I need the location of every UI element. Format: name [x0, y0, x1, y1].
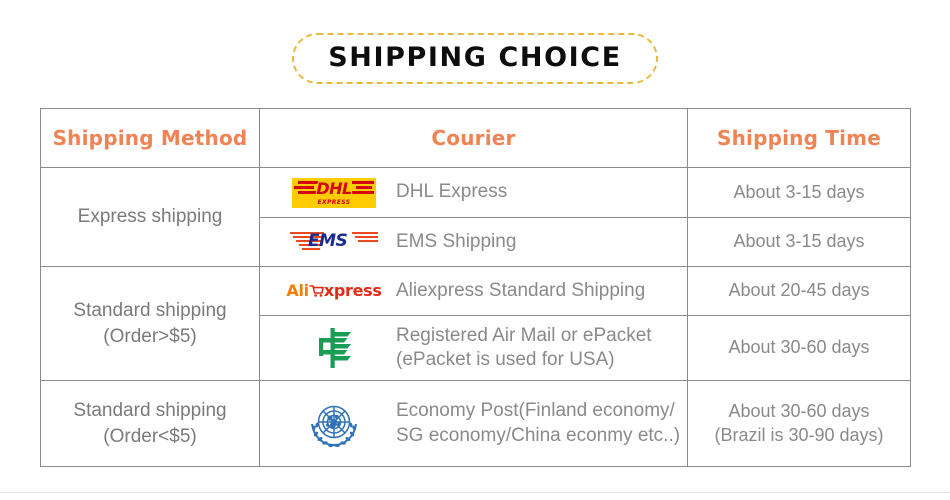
table-row: Express shipping DHL EXPRESS DHL Express — [41, 168, 911, 218]
shopping-cart-icon — [309, 283, 325, 301]
united-nations-logo — [286, 398, 382, 450]
courier-name: Registered Air Mail or ePacket (ePacket … — [396, 324, 652, 373]
china-post-emblem-icon — [311, 325, 357, 371]
header-shipping-time: Shipping Time — [688, 109, 911, 168]
ems-logo-wordmark: EMS — [308, 231, 347, 251]
dhl-logo-subtext: EXPRESS — [292, 199, 376, 207]
shipping-time-value: About 30-60 days (Brazil is 30-90 days) — [688, 381, 911, 467]
header-shipping-method: Shipping Method — [41, 109, 260, 168]
page-title: SHIPPING CHOICE — [328, 44, 622, 71]
courier-name: DHL Express — [396, 180, 507, 204]
courier-name: EMS Shipping — [396, 230, 516, 254]
shipping-table-container: Shipping Method Courier Shipping Time Ex… — [40, 108, 910, 467]
courier-cell-china-post: Registered Air Mail or ePacket (ePacket … — [260, 316, 688, 381]
title-dashed-box: SHIPPING CHOICE — [292, 33, 658, 84]
ems-logo: EMS — [286, 227, 382, 257]
dhl-logo: DHL EXPRESS — [286, 178, 382, 208]
aliexpress-logo: Ali xpress — [286, 282, 382, 300]
bottom-divider — [0, 492, 950, 493]
table-row: Standard shipping (Order<$5) — [41, 381, 911, 467]
courier-cell-aliexpress: Ali xpress — [260, 267, 688, 316]
aliexpress-logo-part2: xpress — [324, 283, 382, 299]
dhl-logo-wordmark: DHL — [292, 179, 376, 198]
courier-name: Aliexpress Standard Shipping — [396, 279, 645, 303]
method-express-shipping: Express shipping — [41, 168, 260, 267]
table-row: Standard shipping (Order>$5) Ali — [41, 267, 911, 316]
shipping-choice-table: Shipping Method Courier Shipping Time Ex… — [40, 108, 911, 467]
shipping-time-value: About 30-60 days — [688, 316, 911, 381]
courier-cell-dhl: DHL EXPRESS DHL Express — [260, 168, 688, 218]
method-standard-shipping-under-5: Standard shipping (Order<$5) — [41, 381, 260, 467]
method-standard-shipping-over-5: Standard shipping (Order>$5) — [41, 267, 260, 381]
shipping-time-value: About 3-15 days — [688, 168, 911, 218]
table-header-row: Shipping Method Courier Shipping Time — [41, 109, 911, 168]
courier-cell-ems: EMS EMS Shipping — [260, 218, 688, 267]
page-title-container: SHIPPING CHOICE — [0, 33, 950, 84]
united-nations-emblem-icon — [306, 398, 362, 450]
courier-cell-economy-post: Economy Post(Finland economy/ SG economy… — [260, 381, 688, 467]
courier-name: Economy Post(Finland economy/ SG economy… — [396, 399, 680, 448]
shipping-time-value: About 3-15 days — [688, 218, 911, 267]
china-post-logo — [286, 325, 382, 371]
aliexpress-logo-part1: Ali — [286, 283, 308, 299]
header-courier: Courier — [260, 109, 688, 168]
shipping-time-value: About 20-45 days — [688, 267, 911, 316]
